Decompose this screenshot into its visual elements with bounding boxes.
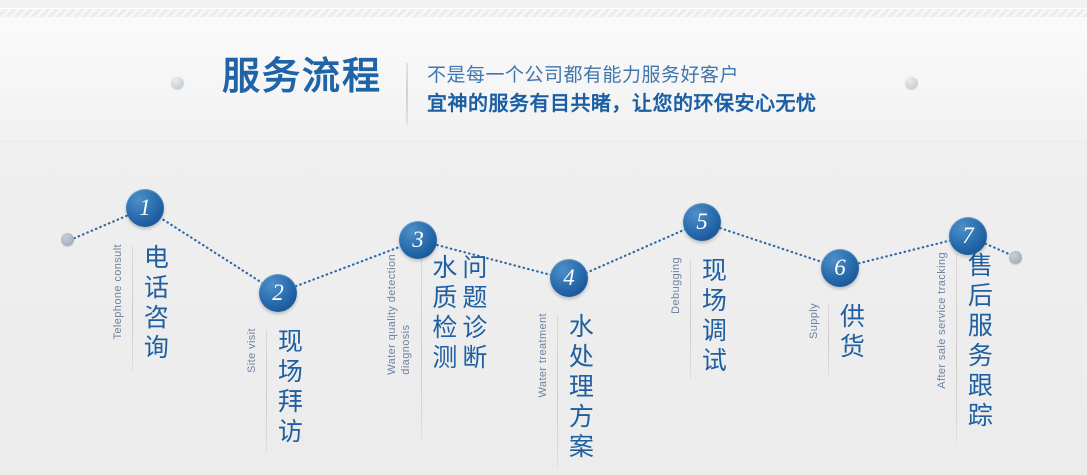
- header-divider: [406, 63, 408, 125]
- step-label-2: Site visit 现场拜访: [246, 328, 302, 452]
- screw-dot-left-icon: [171, 76, 184, 89]
- step-label-2-cn-col-1: 现场拜访: [274, 328, 302, 448]
- step-label-7-en: After sale service tracking: [936, 252, 949, 389]
- step-label-3-en-line-2: diagnosis: [400, 254, 413, 375]
- step-label-6: Supply 供货: [808, 303, 864, 375]
- step-label-2-rule: [266, 330, 267, 452]
- step-label-4-cn-wrap: 水处理方案: [565, 313, 593, 463]
- step-label-5-cn-wrap: 现场调试: [698, 257, 726, 377]
- step-label-7: After sale service tracking 售后服务跟踪: [936, 252, 992, 442]
- step-label-7-cn-wrap: 售后服务跟踪: [964, 252, 992, 432]
- service-process-banner: 服务流程 不是每一个公司都有能力服务好客户 宜神的服务有目共睹，让您的环保安心无…: [0, 0, 1087, 475]
- step-label-3-cn-col-1: 问题诊断: [459, 254, 487, 374]
- step-label-2-cn-wrap: 现场拜访: [274, 328, 302, 448]
- header-content: 服务流程 不是每一个公司都有能力服务好客户 宜神的服务有目共睹，让您的环保安心无…: [0, 8, 1087, 140]
- step-label-6-en: Supply: [808, 303, 821, 339]
- step-label-2-en: Site visit: [246, 328, 259, 373]
- step-label-6-cn-wrap: 供货: [836, 303, 864, 363]
- step-label-3-cn-wrap: 问题诊断 水质检测: [429, 254, 487, 374]
- step-label-3: Water quality detection diagnosis 问题诊断 水…: [386, 254, 487, 441]
- flow-endcap-start-icon: [61, 233, 74, 246]
- step-label-3-en-line-1: Water quality detection: [386, 254, 399, 375]
- process-flow: 1 Telephone consult 电话咨询 2 Site visit 现场…: [0, 140, 1087, 475]
- step-label-4: Water treatment 水处理方案: [537, 313, 593, 467]
- step-label-4-cn-col-1: 水处理方案: [565, 313, 593, 463]
- step-label-3-rule: [421, 256, 422, 441]
- step-label-6-rule: [828, 305, 829, 375]
- step-label-3-en-group: Water quality detection diagnosis: [386, 254, 414, 375]
- step-label-1-cn-col-1: 电话咨询: [140, 244, 168, 364]
- step-node-4[interactable]: 4: [550, 259, 588, 297]
- flow-endcap-end-icon: [1009, 251, 1022, 264]
- step-label-1: Telephone consult 电话咨询: [112, 244, 168, 371]
- step-label-5-rule: [690, 259, 691, 379]
- subtitle-line-2: 宜神的服务有目共睹，让您的环保安心无忧: [427, 92, 817, 118]
- step-node-6[interactable]: 6: [821, 249, 859, 287]
- step-node-5[interactable]: 5: [683, 203, 721, 241]
- step-label-7-cn-col-1: 售后服务跟踪: [964, 252, 992, 432]
- step-label-1-en: Telephone consult: [112, 244, 125, 339]
- step-node-3[interactable]: 3: [399, 221, 437, 259]
- step-label-5: Debugging 现场调试: [670, 257, 726, 379]
- step-label-1-cn-wrap: 电话咨询: [140, 244, 168, 364]
- header-subtitle: 不是每一个公司都有能力服务好客户 宜神的服务有目共睹，让您的环保安心无忧: [427, 64, 817, 118]
- subtitle-line-1: 不是每一个公司都有能力服务好客户: [427, 64, 817, 88]
- step-label-4-en: Water treatment: [537, 313, 550, 397]
- step-label-5-en: Debugging: [670, 257, 683, 314]
- step-node-7[interactable]: 7: [949, 217, 987, 255]
- page-title: 服务流程: [222, 58, 382, 96]
- step-label-4-rule: [557, 315, 558, 467]
- step-label-5-cn-col-1: 现场调试: [698, 257, 726, 377]
- step-node-1[interactable]: 1: [126, 189, 164, 227]
- step-label-1-rule: [132, 246, 133, 371]
- screw-dot-right-icon: [905, 76, 918, 89]
- step-label-7-rule: [956, 254, 957, 442]
- step-label-6-cn-col-1: 供货: [836, 303, 864, 363]
- step-node-2[interactable]: 2: [259, 274, 297, 312]
- step-label-3-cn-col-2: 水质检测: [429, 254, 457, 374]
